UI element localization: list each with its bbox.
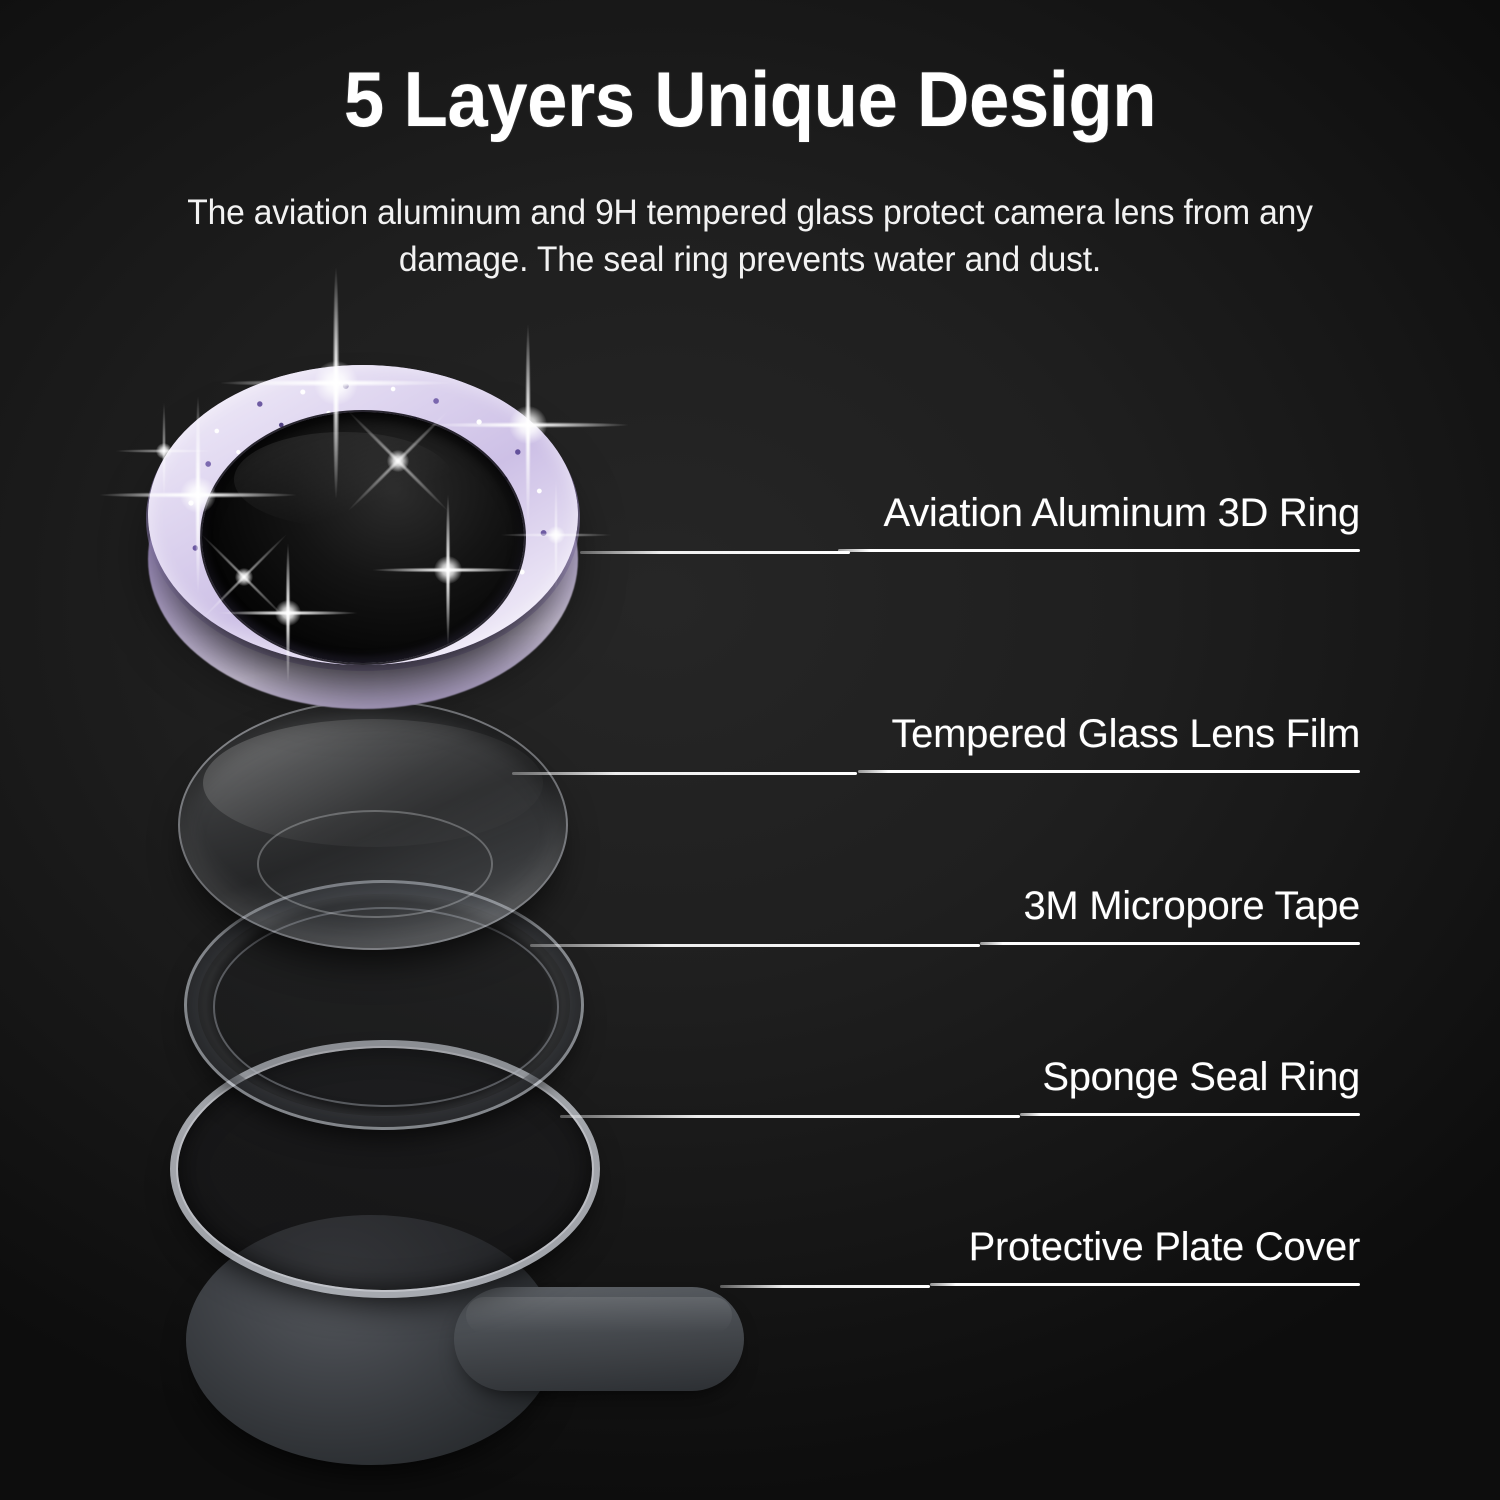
layer-aviation-aluminum-ring <box>148 365 578 710</box>
callout-label-layer-5: Protective Plate Cover <box>969 1225 1360 1270</box>
callout-label-layer-4: Sponge Seal Ring <box>1042 1055 1360 1100</box>
layer-tempered-glass-film <box>178 700 568 950</box>
leader-line-layer-4 <box>560 1115 1020 1118</box>
callout-underline-layer-2 <box>858 770 1360 773</box>
leader-line-layer-2 <box>512 772 857 775</box>
exploded-product-illustration <box>0 0 860 1500</box>
callout-label-layer-2: Tempered Glass Lens Film <box>891 712 1360 757</box>
leader-line-layer-3 <box>530 944 980 947</box>
leader-line-layer-5 <box>720 1285 930 1288</box>
callout-underline-layer-5 <box>930 1283 1360 1286</box>
ring-lens-aperture <box>202 412 525 664</box>
infographic-canvas: 5 Layers Unique Design The aviation alum… <box>0 0 1500 1500</box>
callout-label-layer-3: 3M Micropore Tape <box>1023 884 1360 929</box>
callout-underline-layer-4 <box>1020 1113 1360 1116</box>
plate-cover-pull-tab <box>454 1287 744 1391</box>
leader-line-layer-1 <box>580 551 850 554</box>
callout-layer-2: Tempered Glass Lens Film <box>858 707 1360 773</box>
callout-layer-1: Aviation Aluminum 3D Ring <box>838 486 1360 552</box>
callout-layer-4: Sponge Seal Ring <box>1020 1050 1360 1116</box>
callout-layer-5: Protective Plate Cover <box>930 1220 1360 1286</box>
callout-underline-layer-1 <box>838 549 1360 552</box>
tempered-glass-disc-shape <box>178 700 568 950</box>
callout-underline-layer-3 <box>980 942 1360 945</box>
callout-layer-3: 3M Micropore Tape <box>980 879 1360 945</box>
callout-label-layer-1: Aviation Aluminum 3D Ring <box>884 491 1360 536</box>
